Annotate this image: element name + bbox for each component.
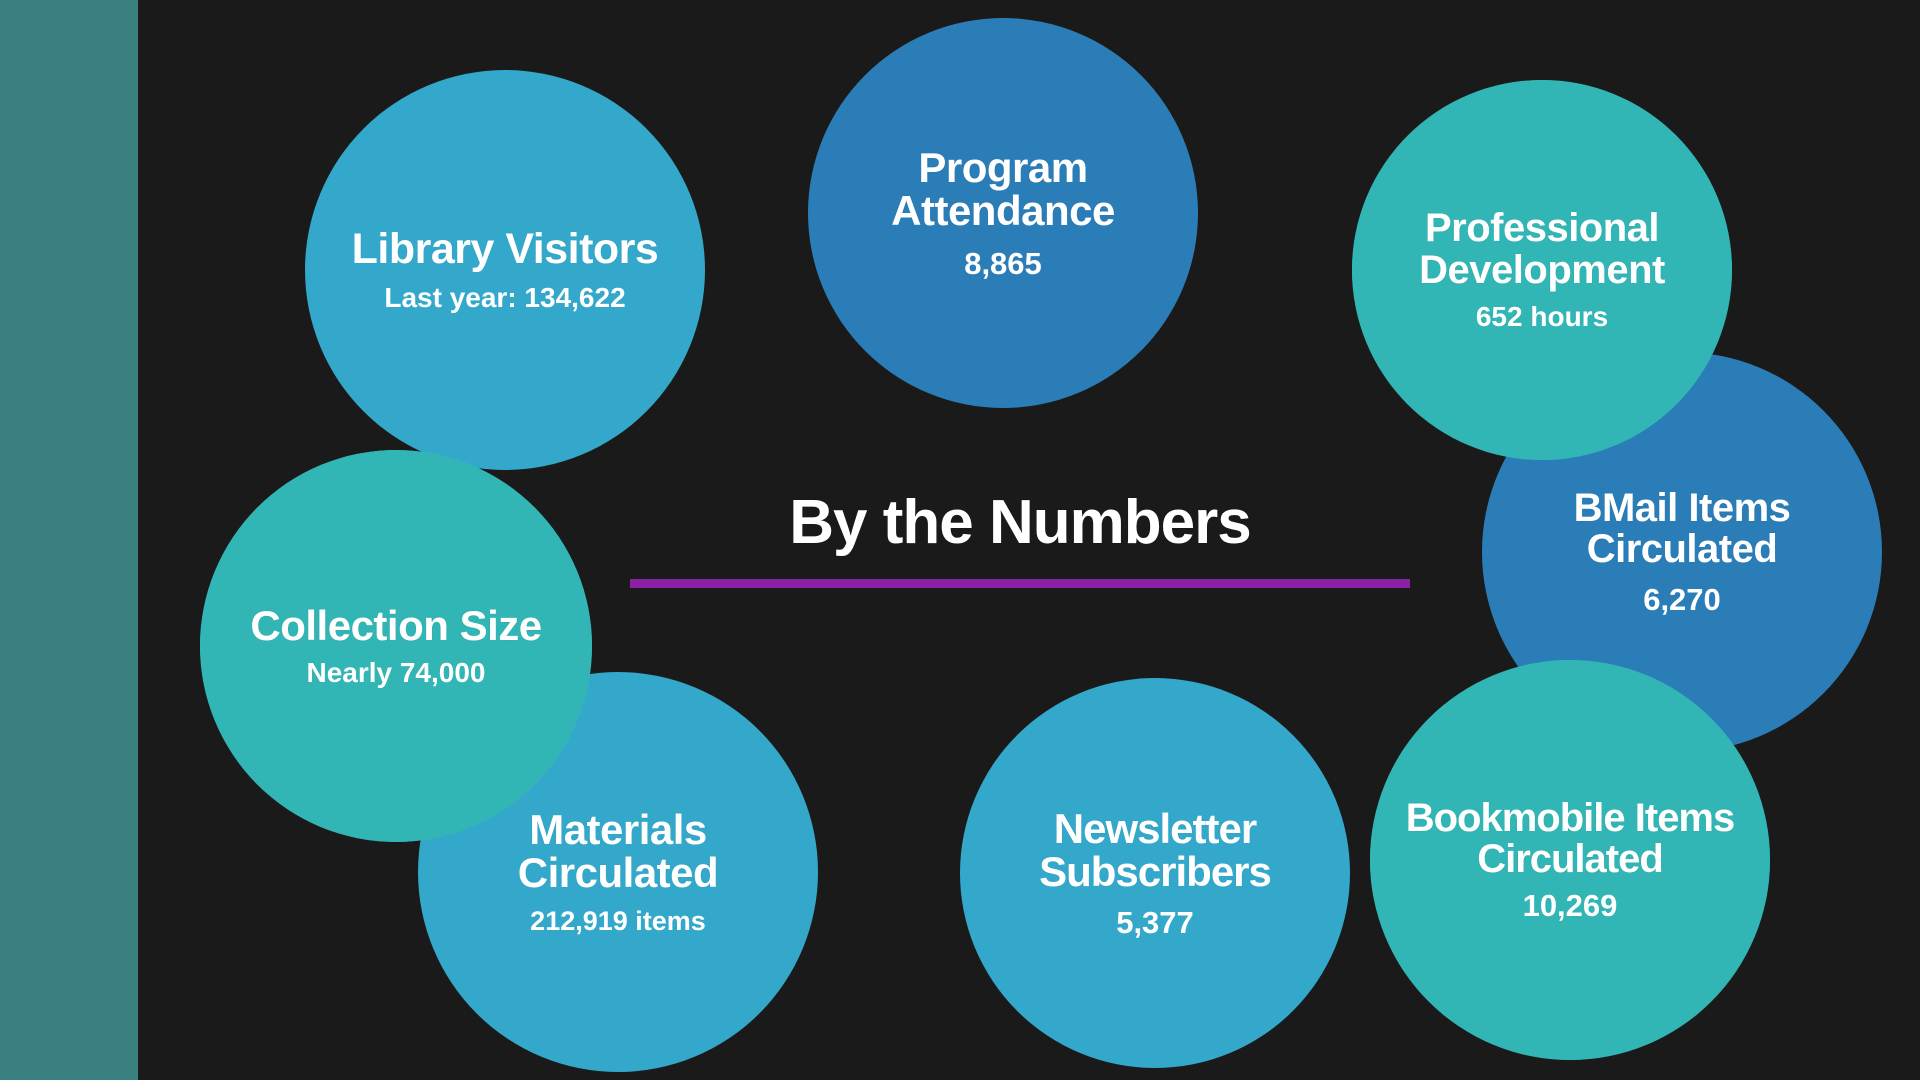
- bubble-title-newsletter-subscribers: Newsletter Subscribers: [970, 807, 1340, 894]
- bubble-title-bookmobile-items-circulated: Bookmobile Items Circulated: [1380, 798, 1760, 880]
- center-heading-block: By the Numbers: [620, 490, 1420, 588]
- bubble-title-materials-circulated: Materials Circulated: [428, 808, 808, 895]
- bubble-bookmobile-items-circulated[interactable]: Bookmobile Items Circulated 10,269: [1370, 660, 1770, 1060]
- bubble-value-materials-circulated: 212,919 items: [530, 908, 706, 936]
- bubble-title-collection-size: Collection Size: [250, 604, 541, 647]
- bubble-library-visitors[interactable]: Library Visitors Last year: 134,622: [305, 70, 705, 470]
- bubble-value-library-visitors: Last year: 134,622: [384, 284, 625, 313]
- title-divider-rule: [630, 579, 1410, 588]
- bubble-value-collection-size: Nearly 74,000: [306, 659, 485, 688]
- bubble-professional-development[interactable]: Professional Development 652 hours: [1352, 80, 1732, 460]
- bubble-title-program-attendance: Program Attendance: [818, 146, 1188, 233]
- bubble-value-program-attendance: 8,865: [964, 248, 1042, 280]
- bubble-value-bookmobile-items-circulated: 10,269: [1523, 890, 1618, 922]
- page-title: By the Numbers: [620, 490, 1420, 555]
- bubble-value-bmail-items-circulated: 6,270: [1643, 584, 1721, 616]
- bubble-value-newsletter-subscribers: 5,377: [1116, 907, 1194, 939]
- bubble-title-library-visitors: Library Visitors: [352, 227, 659, 271]
- bubble-program-attendance[interactable]: Program Attendance 8,865: [808, 18, 1198, 408]
- infographic-slide: Library Visitors Last year: 134,622 Prog…: [0, 0, 1920, 1080]
- bubble-collection-size[interactable]: Collection Size Nearly 74,000: [200, 450, 592, 842]
- bubble-title-bmail-items-circulated: BMail Items Circulated: [1492, 488, 1872, 570]
- bubble-value-professional-development: 652 hours: [1476, 303, 1608, 332]
- bubble-title-professional-development: Professional Development: [1362, 208, 1722, 290]
- bubble-newsletter-subscribers[interactable]: Newsletter Subscribers 5,377: [960, 678, 1350, 1068]
